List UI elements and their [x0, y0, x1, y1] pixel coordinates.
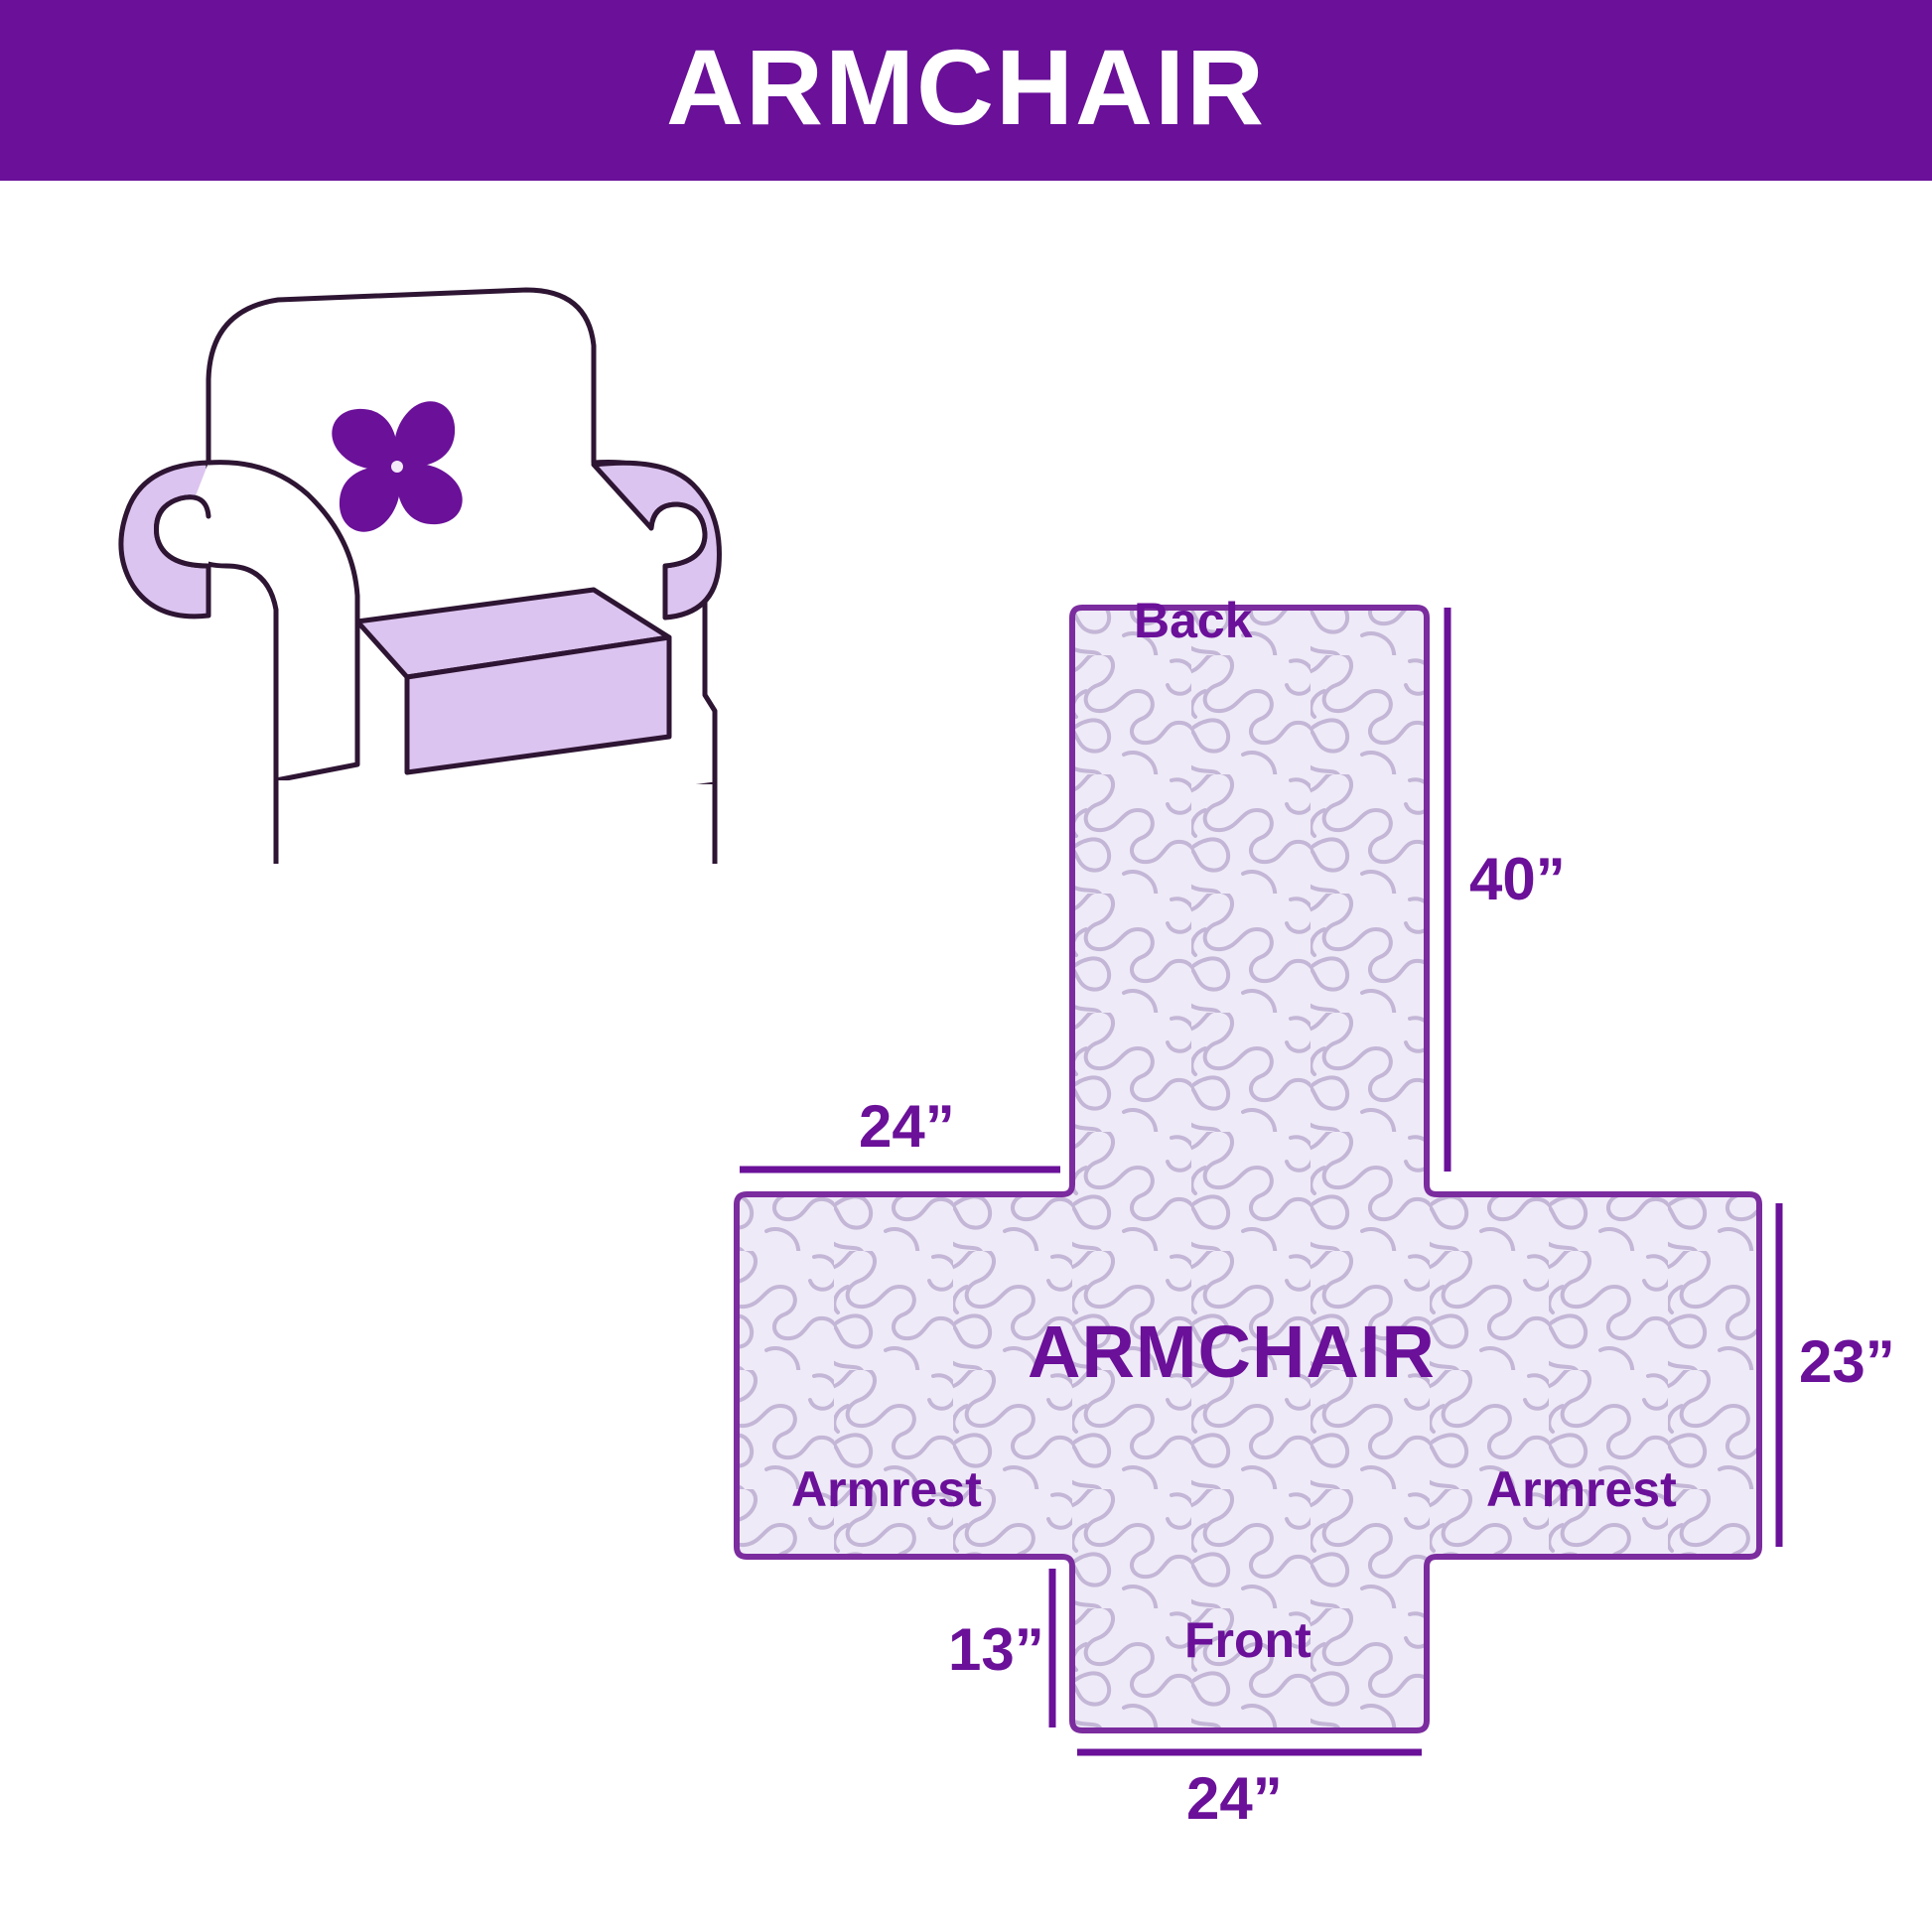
panel-label-armrest-left: Armrest: [791, 1464, 982, 1514]
dimension-label-front-width: 24”: [1186, 1769, 1283, 1829]
dimension-label-back-height: 40”: [1469, 850, 1566, 909]
dimension-label-back-width: 24”: [859, 1097, 955, 1157]
page-title: ARMCHAIR: [666, 34, 1266, 141]
dimension-label-armrest-height: 23”: [1799, 1332, 1895, 1392]
dimension-label-front-height: 13”: [948, 1620, 1044, 1680]
cover-product-label: ARMCHAIR: [1028, 1315, 1436, 1389]
product-dimension-infographic: ARMCHAIR: [0, 0, 1932, 1932]
panel-label-armrest-right: Armrest: [1486, 1464, 1677, 1514]
panel-label-front: Front: [1184, 1615, 1311, 1665]
header-banner: ARMCHAIR: [0, 0, 1932, 181]
panel-label-back: Back: [1134, 596, 1253, 645]
